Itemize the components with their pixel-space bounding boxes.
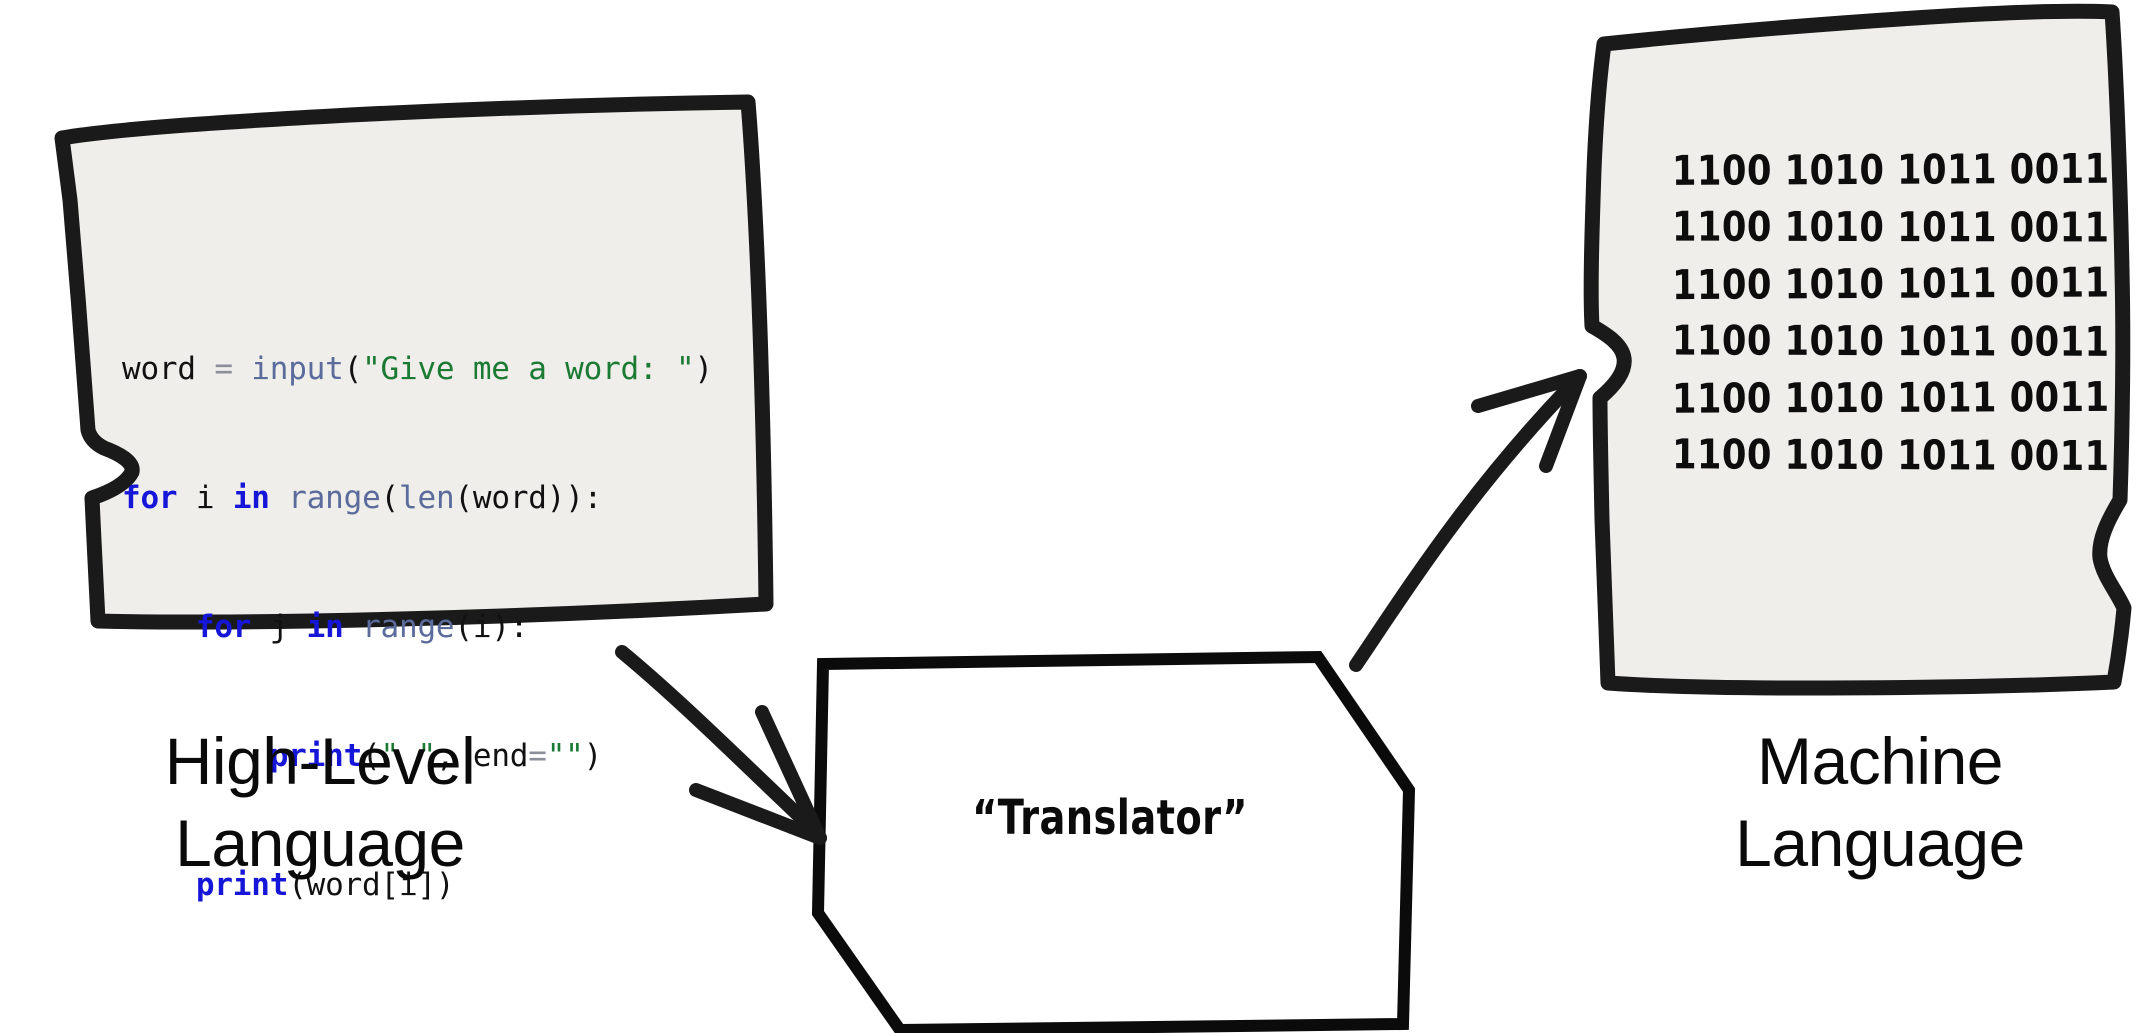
diagram-canvas: word = input("Give me a word: ") for i i…	[0, 0, 2150, 1033]
translator-label: “Translator”	[878, 790, 1342, 846]
caption-line: Language	[1620, 802, 2140, 884]
code-line: word = input("Give me a word: ")	[122, 348, 762, 391]
code-line: for i in range(len(word)):	[122, 477, 762, 520]
binary-line: 1100 1010 1011 0011	[1672, 199, 2033, 257]
arrow-translator-to-machine	[1356, 376, 1580, 665]
caption-line: High-Level	[60, 720, 580, 802]
binary-line: 1100 1010 1011 0011	[1672, 255, 2033, 314]
caption-line: Machine	[1620, 720, 2140, 802]
machine-language-caption: Machine Language	[1620, 720, 2140, 884]
caption-line: Language	[60, 802, 580, 884]
code-line: for j in range(i):	[122, 606, 762, 649]
binary-line: 1100 1010 1011 0011	[1672, 312, 2033, 370]
binary-line: 1100 1010 1011 0011	[1672, 141, 2033, 200]
binary-line: 1100 1010 1011 0011	[1672, 369, 2033, 427]
high-level-language-caption: High-Level Language	[60, 720, 580, 884]
binary-line: 1100 1010 1011 0011	[1672, 426, 2033, 484]
machine-code-text: 1100 1010 1011 0011 1100 1010 1011 0011 …	[1672, 142, 2033, 484]
